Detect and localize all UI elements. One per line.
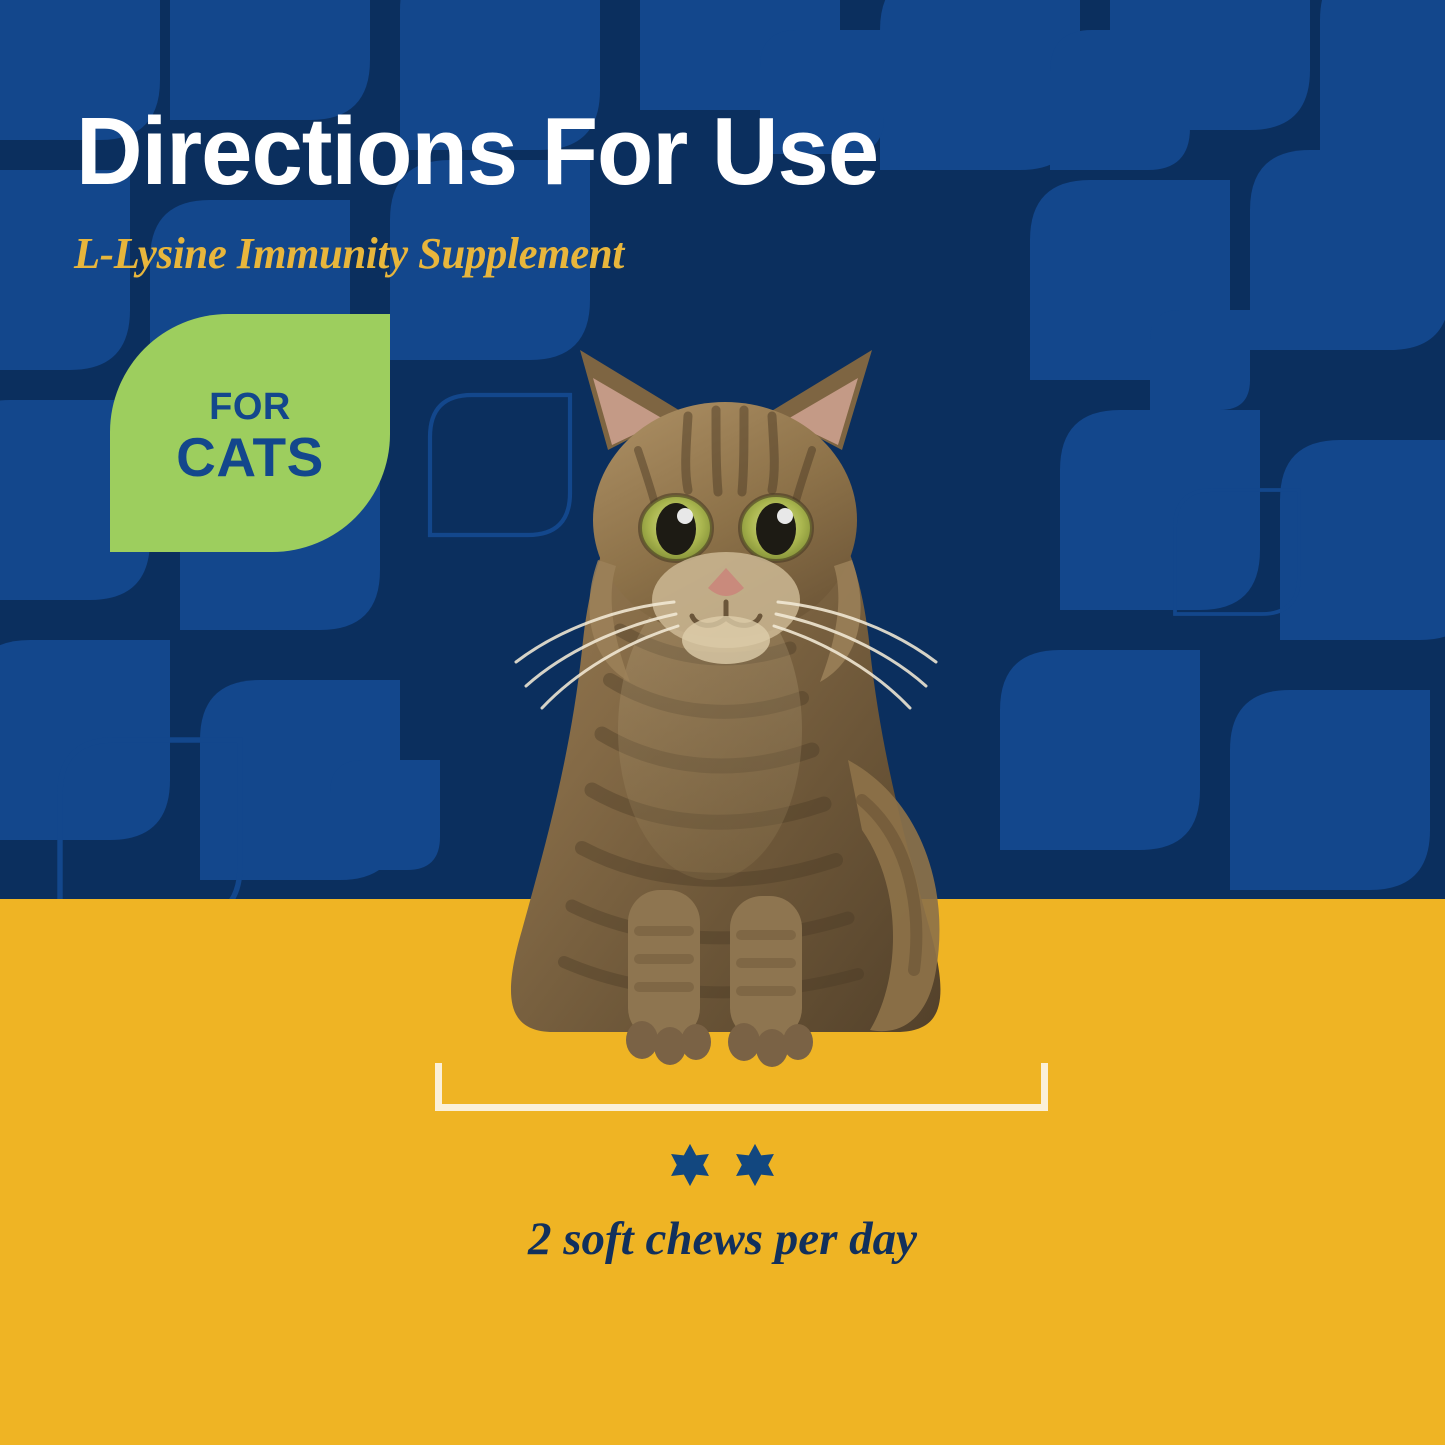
six-point-star-icon bbox=[668, 1143, 712, 1187]
badge-label-for: FOR bbox=[110, 388, 390, 426]
cat-illustration-icon bbox=[430, 330, 1030, 1100]
page-title: Directions For Use bbox=[76, 104, 1036, 200]
six-point-star-icon bbox=[733, 1143, 777, 1187]
cat-photo bbox=[430, 330, 1030, 1100]
for-cats-badge: FOR CATS bbox=[110, 314, 390, 552]
for-cats-badge-text: FOR CATS bbox=[110, 388, 390, 485]
dosage-caption: 2 soft chews per day bbox=[0, 1212, 1445, 1266]
badge-label-cats: CATS bbox=[110, 430, 390, 485]
measurement-bracket-icon bbox=[435, 1063, 1048, 1111]
page-subtitle: L-Lysine Immunity Supplement bbox=[74, 228, 624, 279]
product-infographic: Directions For Use L-Lysine Immunity Sup… bbox=[0, 0, 1445, 1445]
dose-star-group bbox=[0, 1143, 1445, 1187]
